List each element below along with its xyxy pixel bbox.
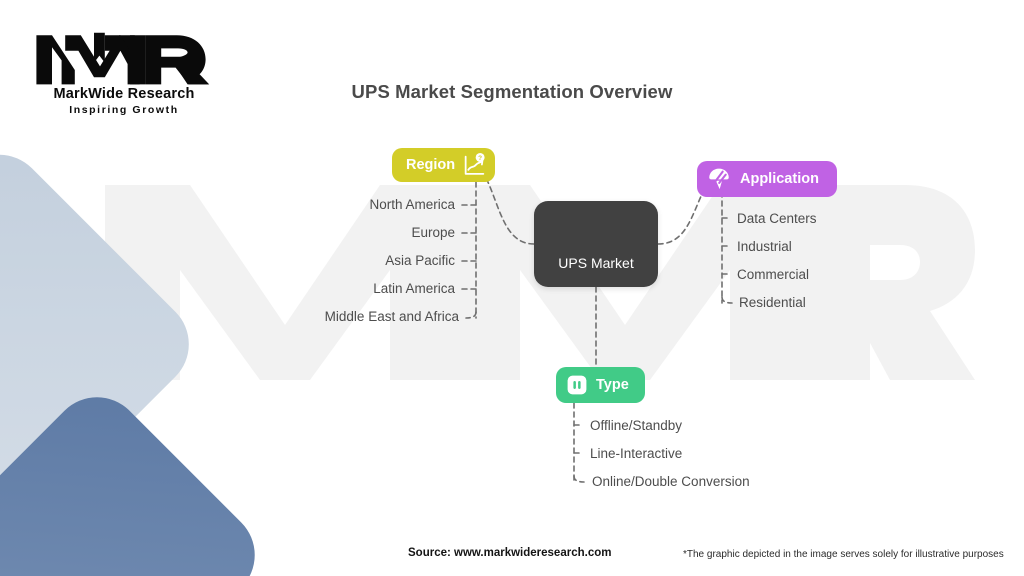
diagram-connectors bbox=[0, 0, 1024, 576]
leaf-type-1: Line-Interactive bbox=[590, 446, 682, 461]
node-application-label: Application bbox=[740, 171, 819, 187]
connector-center-region bbox=[487, 180, 534, 244]
node-type-label: Type bbox=[596, 377, 629, 393]
connector-type-item-2 bbox=[574, 476, 584, 482]
connector-application-item-3 bbox=[722, 297, 732, 303]
leaf-application-0: Data Centers bbox=[737, 211, 817, 226]
node-center-label: UPS Market bbox=[558, 255, 633, 271]
node-branch-application[interactable]: Application bbox=[697, 161, 837, 197]
leaf-region-3: Latin America bbox=[373, 281, 455, 296]
leaf-application-1: Industrial bbox=[737, 239, 792, 254]
leaf-region-2: Asia Pacific bbox=[385, 253, 455, 268]
connector-center-application bbox=[658, 186, 706, 244]
leaf-region-4: Middle East and Africa bbox=[325, 309, 459, 324]
node-branch-type[interactable]: Type bbox=[556, 367, 645, 403]
pause-square-icon bbox=[565, 373, 589, 397]
footer-disclaimer: *The graphic depicted in the image serve… bbox=[683, 549, 1004, 560]
leaf-type-2: Online/Double Conversion bbox=[592, 474, 750, 489]
node-branch-region[interactable]: Region ? bbox=[392, 148, 495, 182]
svg-text:?: ? bbox=[478, 154, 482, 161]
leaf-application-3: Residential bbox=[739, 295, 806, 310]
node-center-ups-market[interactable]: UPS Market bbox=[534, 201, 658, 287]
connector-region-item-4 bbox=[466, 312, 476, 318]
leaf-type-0: Offline/Standby bbox=[590, 418, 682, 433]
leaf-application-2: Commercial bbox=[737, 267, 809, 282]
node-region-label: Region bbox=[406, 157, 455, 173]
balloon-icon bbox=[706, 166, 732, 192]
chart-question-icon: ? bbox=[462, 153, 487, 178]
leaf-region-1: Europe bbox=[411, 225, 455, 240]
leaf-region-0: North America bbox=[369, 197, 455, 212]
footer-source: Source: www.markwideresearch.com bbox=[408, 547, 611, 559]
